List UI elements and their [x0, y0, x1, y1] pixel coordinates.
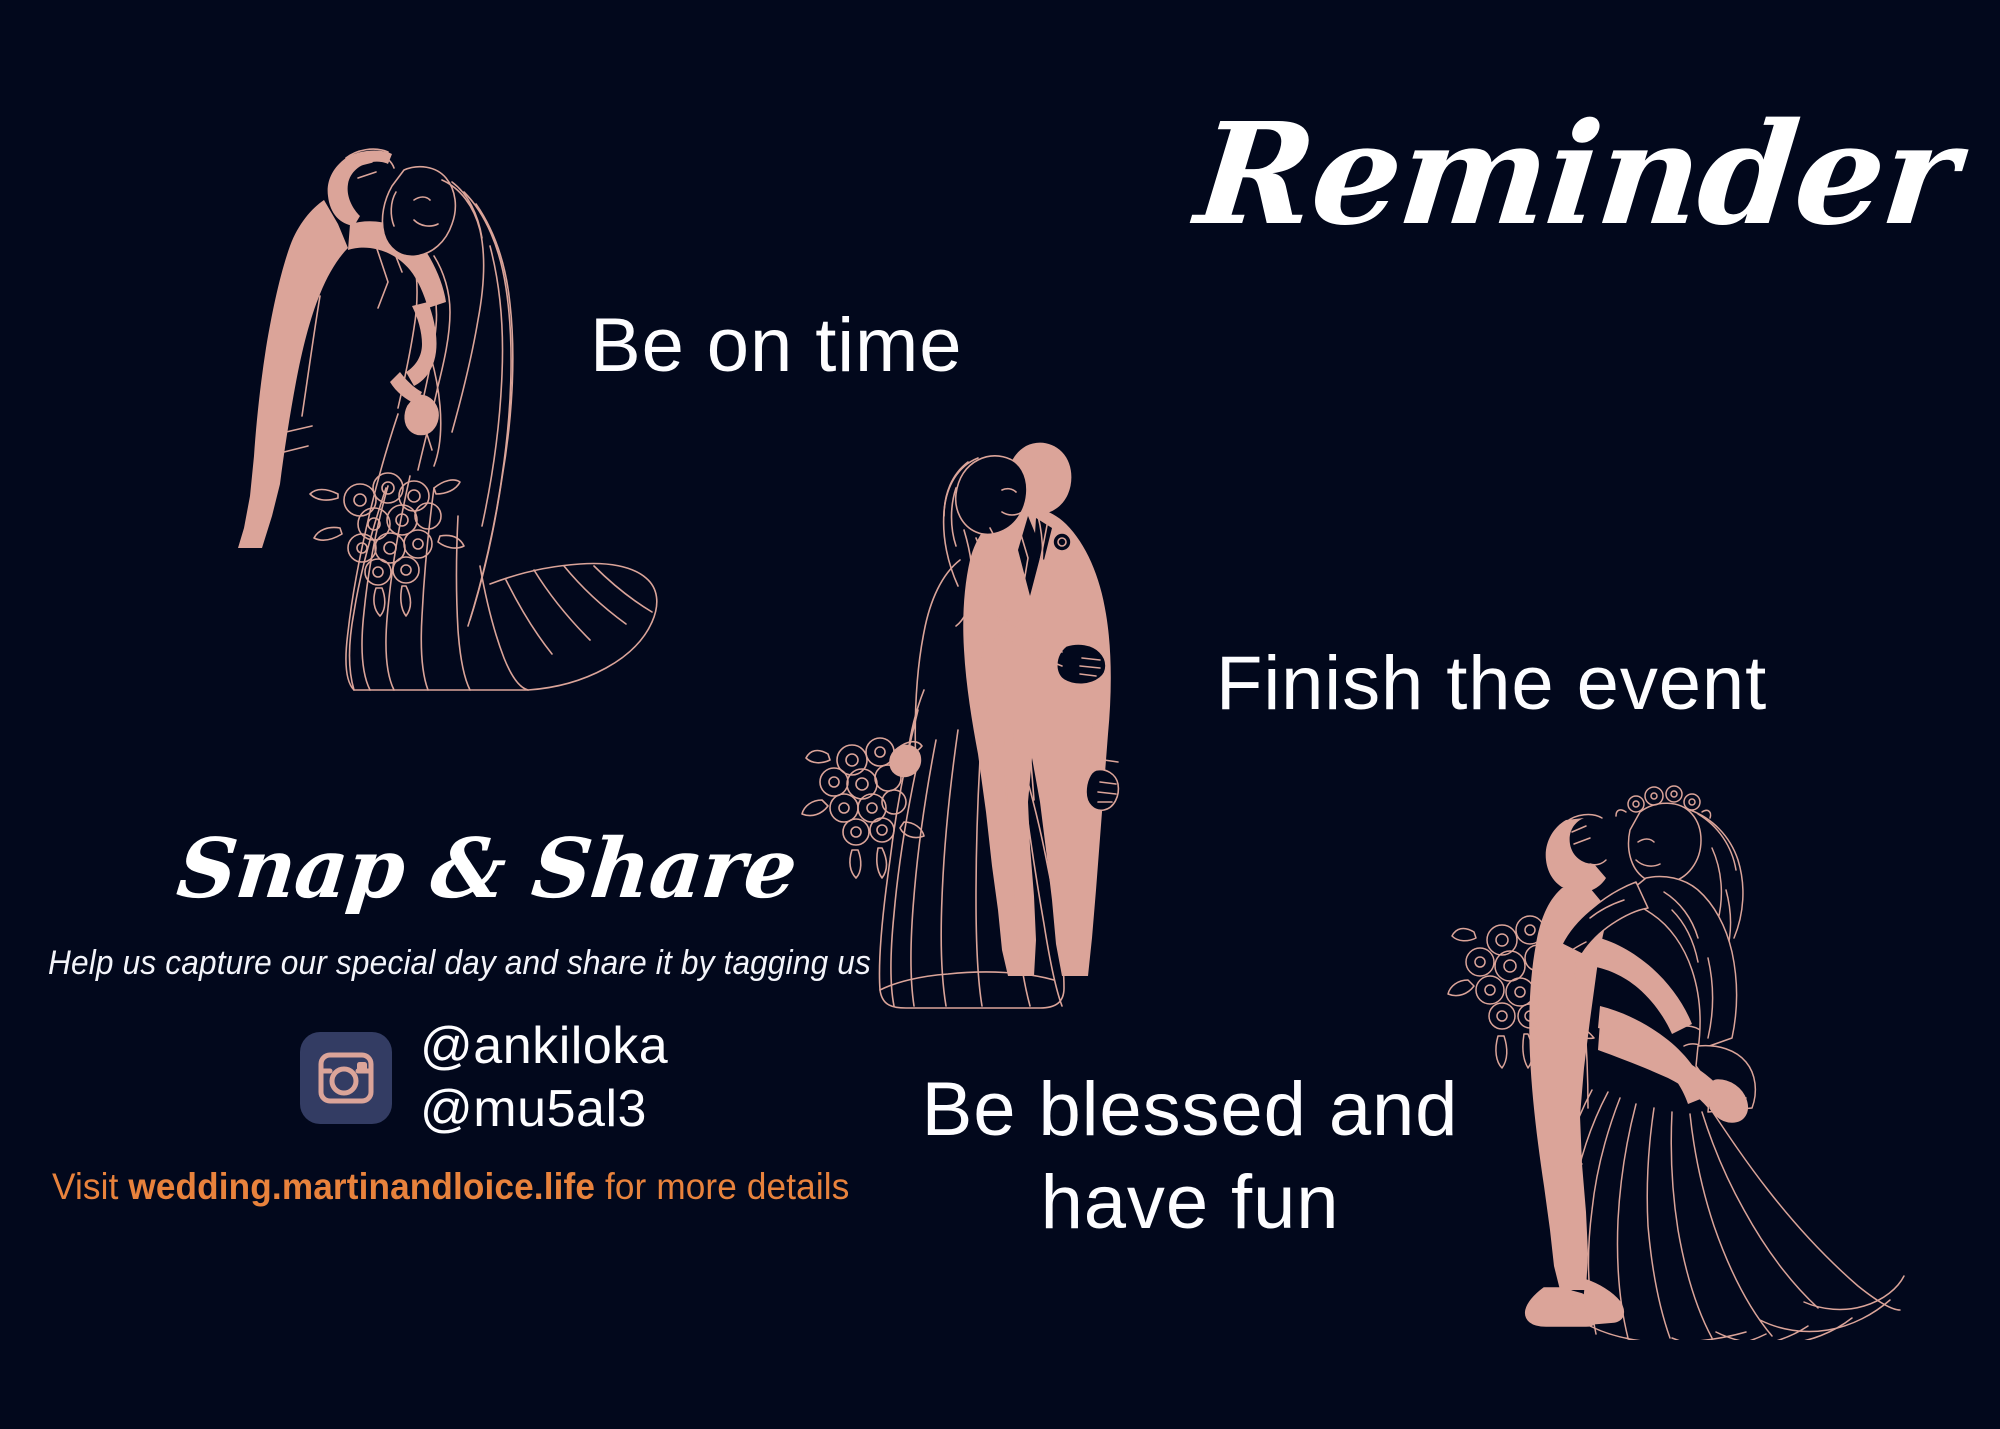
couple-standing-illustration — [790, 410, 1180, 1010]
visit-prefix: Visit — [52, 1166, 128, 1207]
couple-lifting-illustration — [1440, 760, 1910, 1340]
wedding-reminder-card: Reminder Be on time Finish the event Be … — [0, 0, 2000, 1429]
instagram-handle-list: @ankiloka @mu5al3 — [420, 1016, 668, 1141]
reminder-finish-the-event: Finish the event — [1216, 638, 1767, 731]
instagram-handles-row: @ankiloka @mu5al3 — [300, 1016, 668, 1141]
visit-domain[interactable]: wedding.martinandloice.life — [128, 1166, 595, 1207]
instagram-icon[interactable] — [300, 1032, 392, 1124]
snap-and-share-heading: Snap & Share — [174, 828, 801, 910]
instagram-handle-secondary[interactable]: @mu5al3 — [420, 1079, 668, 1140]
reminder-be-blessed-line2: have fun — [890, 1157, 1490, 1250]
couple-kissing-illustration — [228, 96, 698, 696]
visit-website-line: Visit wedding.martinandloice.life for mo… — [52, 1166, 849, 1208]
page-title: Reminder — [1191, 105, 1964, 245]
reminder-be-blessed: Be blessed and have fun — [890, 1064, 1490, 1249]
snap-and-share-tagline: Help us capture our special day and shar… — [48, 944, 871, 983]
visit-suffix: for more details — [595, 1166, 849, 1207]
instagram-handle-primary[interactable]: @ankiloka — [420, 1016, 668, 1077]
reminder-be-on-time: Be on time — [590, 300, 962, 393]
reminder-be-blessed-line1: Be blessed and — [890, 1064, 1490, 1157]
